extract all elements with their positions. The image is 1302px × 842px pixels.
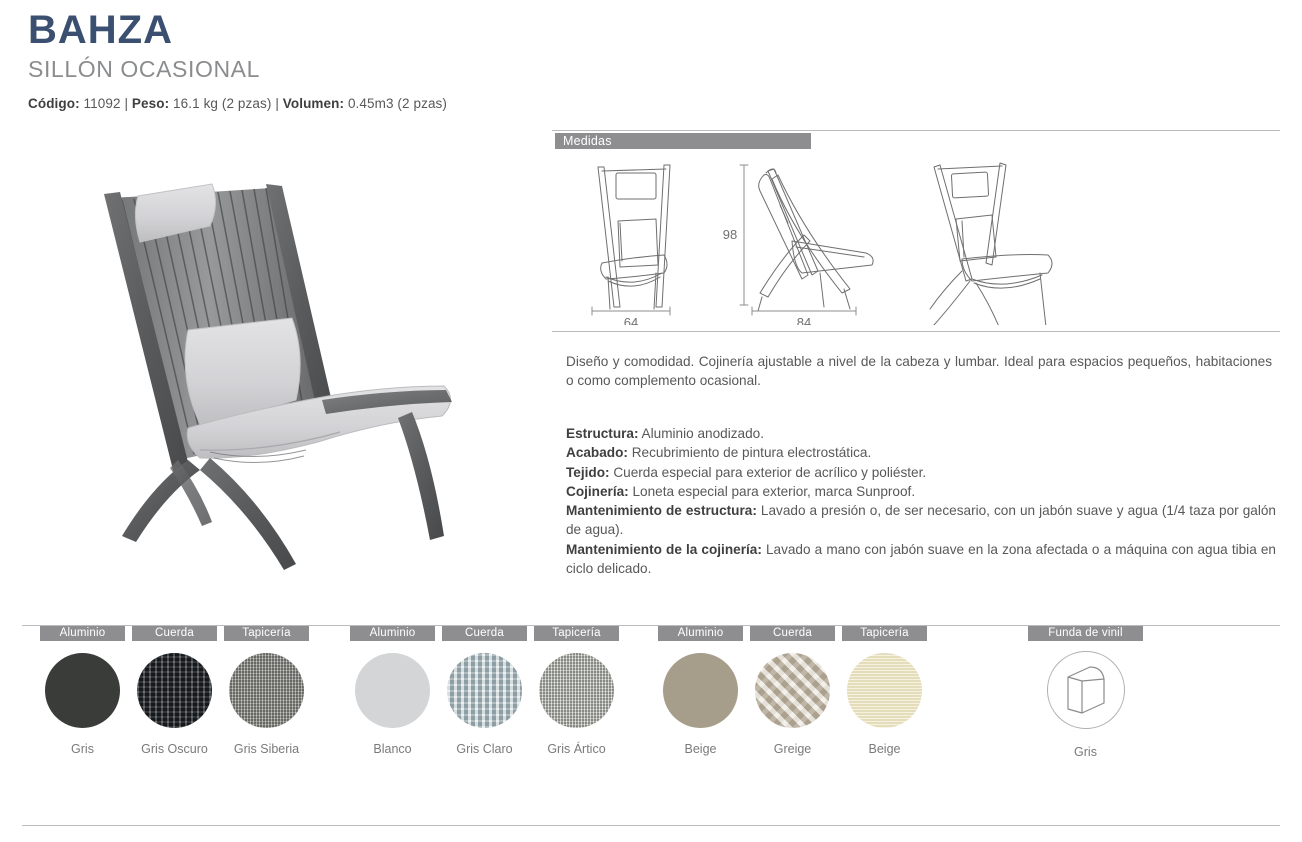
swatch-group-2: AluminioCuerdaTapiceríaBlancoGris ClaroG… xyxy=(350,626,619,756)
swatch-caption: Beige xyxy=(842,742,927,756)
spec-key: Tejido: xyxy=(566,465,610,480)
dim-depth-label: 84 xyxy=(797,315,811,325)
divider-middle-right xyxy=(552,331,1280,332)
swatch-circle-row: GrisGris OscuroGris Siberia xyxy=(40,653,309,756)
swatch-circle[interactable] xyxy=(355,653,430,728)
product-specs: Estructura: Aluminio anodizado.Acabado: … xyxy=(566,424,1276,578)
vinyl-circle-row: Gris xyxy=(1028,651,1143,759)
spec-key: Estructura: xyxy=(566,426,639,441)
swatch-group-1: AluminioCuerdaTapiceríaGrisGris OscuroGr… xyxy=(40,626,309,756)
swatch-caption: Greige xyxy=(750,742,835,756)
peso-label: Peso: xyxy=(132,96,169,111)
vinyl-swatch-item[interactable]: Gris xyxy=(1028,651,1143,759)
swatch-category-aluminio: Aluminio xyxy=(658,626,743,641)
dim-width-label: 64 xyxy=(624,315,638,325)
swatch-category-aluminio: Aluminio xyxy=(40,626,125,641)
codigo-value: 11092 xyxy=(84,96,121,111)
divider-footer xyxy=(22,825,1280,826)
spec-line: Estructura: Aluminio anodizado. xyxy=(566,424,1276,443)
spec-value: Aluminio anodizado. xyxy=(639,426,764,441)
meta-separator-2: | xyxy=(275,96,279,111)
swatch-circle[interactable] xyxy=(847,653,922,728)
product-photo xyxy=(60,160,520,580)
spec-key: Acabado: xyxy=(566,445,628,460)
swatch-circle[interactable] xyxy=(229,653,304,728)
swatch-circle[interactable] xyxy=(663,653,738,728)
vinyl-swatch-caption: Gris xyxy=(1028,745,1143,759)
divider-top-right xyxy=(552,130,1280,131)
swatch-item[interactable]: Blanco xyxy=(350,653,435,756)
page-title: BAHZA xyxy=(28,10,1278,50)
product-meta: Código: 11092 | Peso: 16.1 kg (2 pzas) |… xyxy=(28,96,1278,111)
spec-key: Mantenimiento de la cojinería: xyxy=(566,542,762,557)
swatch-category-tapicera: Tapicería xyxy=(534,626,619,641)
swatch-category-fundadevinil: Funda de vinil xyxy=(1028,626,1143,641)
swatch-category-cuerda: Cuerda xyxy=(132,626,217,641)
swatch-circle[interactable] xyxy=(447,653,522,728)
spec-value: Recubrimiento de pintura electrostática. xyxy=(628,445,871,460)
swatch-circle-row: BeigeGreigeBeige xyxy=(658,653,927,756)
swatch-category-aluminio: Aluminio xyxy=(350,626,435,641)
swatch-group-labels: AluminioCuerdaTapicería xyxy=(40,626,309,641)
product-description: Diseño y comodidad. Cojinería ajustable … xyxy=(566,352,1272,391)
swatch-group-labels: AluminioCuerdaTapicería xyxy=(658,626,927,641)
swatch-item[interactable]: Gris xyxy=(40,653,125,756)
swatch-item[interactable]: Gris Oscuro xyxy=(132,653,217,756)
swatch-item[interactable]: Gris Siberia xyxy=(224,653,309,756)
vinyl-group-labels: Funda de vinil xyxy=(1028,626,1143,641)
spec-key: Cojinería: xyxy=(566,484,629,499)
spec-value: Cuerda especial para exterior de acrílic… xyxy=(610,465,927,480)
spec-line: Cojinería: Loneta especial para exterior… xyxy=(566,482,1276,501)
swatch-item[interactable]: Beige xyxy=(842,653,927,756)
swatch-caption: Gris xyxy=(40,742,125,756)
swatch-caption: Gris Oscuro xyxy=(132,742,217,756)
peso-value: 16.1 kg (2 pzas) xyxy=(173,96,271,111)
swatch-circle-row: BlancoGris ClaroGris Ártico xyxy=(350,653,619,756)
spec-line: Acabado: Recubrimiento de pintura electr… xyxy=(566,443,1276,462)
product-subtitle: SILLÓN OCASIONAL xyxy=(28,55,1278,84)
swatch-group-labels: AluminioCuerdaTapicería xyxy=(350,626,619,641)
dim-height-label: 98 xyxy=(723,227,737,242)
product-header: BAHZA SILLÓN OCASIONAL Código: 11092 | P… xyxy=(28,10,1278,111)
swatch-category-tapicera: Tapicería xyxy=(842,626,927,641)
swatch-item[interactable]: Beige xyxy=(658,653,743,756)
swatch-category-cuerda: Cuerda xyxy=(750,626,835,641)
dimension-drawings: 64 84 98 xyxy=(556,155,1276,325)
spec-line: Mantenimiento de la cojinería: Lavado a … xyxy=(566,540,1276,579)
swatch-circle[interactable] xyxy=(137,653,212,728)
swatch-item[interactable]: Greige xyxy=(750,653,835,756)
spec-line: Tejido: Cuerda especial para exterior de… xyxy=(566,463,1276,482)
spec-key: Mantenimiento de estructura: xyxy=(566,503,757,518)
codigo-label: Código: xyxy=(28,96,80,111)
vinyl-cover-group: Funda de vinilGris xyxy=(1028,626,1143,759)
volumen-label: Volumen: xyxy=(283,96,344,111)
swatch-category-tapicera: Tapicería xyxy=(224,626,309,641)
swatch-circle[interactable] xyxy=(45,653,120,728)
swatch-item[interactable]: Gris Ártico xyxy=(534,653,619,756)
material-swatch-section: AluminioCuerdaTapiceríaGrisGris OscuroGr… xyxy=(0,626,1302,786)
swatch-caption: Blanco xyxy=(350,742,435,756)
swatch-item[interactable]: Gris Claro xyxy=(442,653,527,756)
medidas-header-bar: Medidas xyxy=(555,133,811,149)
spec-line: Mantenimiento de estructura: Lavado a pr… xyxy=(566,501,1276,540)
spec-value: Loneta especial para exterior, marca Sun… xyxy=(629,484,915,499)
volumen-value: 0.45m3 (2 pzas) xyxy=(348,96,447,111)
swatch-group-3: AluminioCuerdaTapiceríaBeigeGreigeBeige xyxy=(658,626,927,756)
meta-separator-1: | xyxy=(124,96,128,111)
swatch-circle[interactable] xyxy=(539,653,614,728)
swatch-caption: Gris Ártico xyxy=(534,742,619,756)
swatch-category-cuerda: Cuerda xyxy=(442,626,527,641)
swatch-caption: Beige xyxy=(658,742,743,756)
vinyl-cover-icon[interactable] xyxy=(1047,651,1125,729)
swatch-caption: Gris Siberia xyxy=(224,742,309,756)
swatch-caption: Gris Claro xyxy=(442,742,527,756)
swatch-circle[interactable] xyxy=(755,653,830,728)
